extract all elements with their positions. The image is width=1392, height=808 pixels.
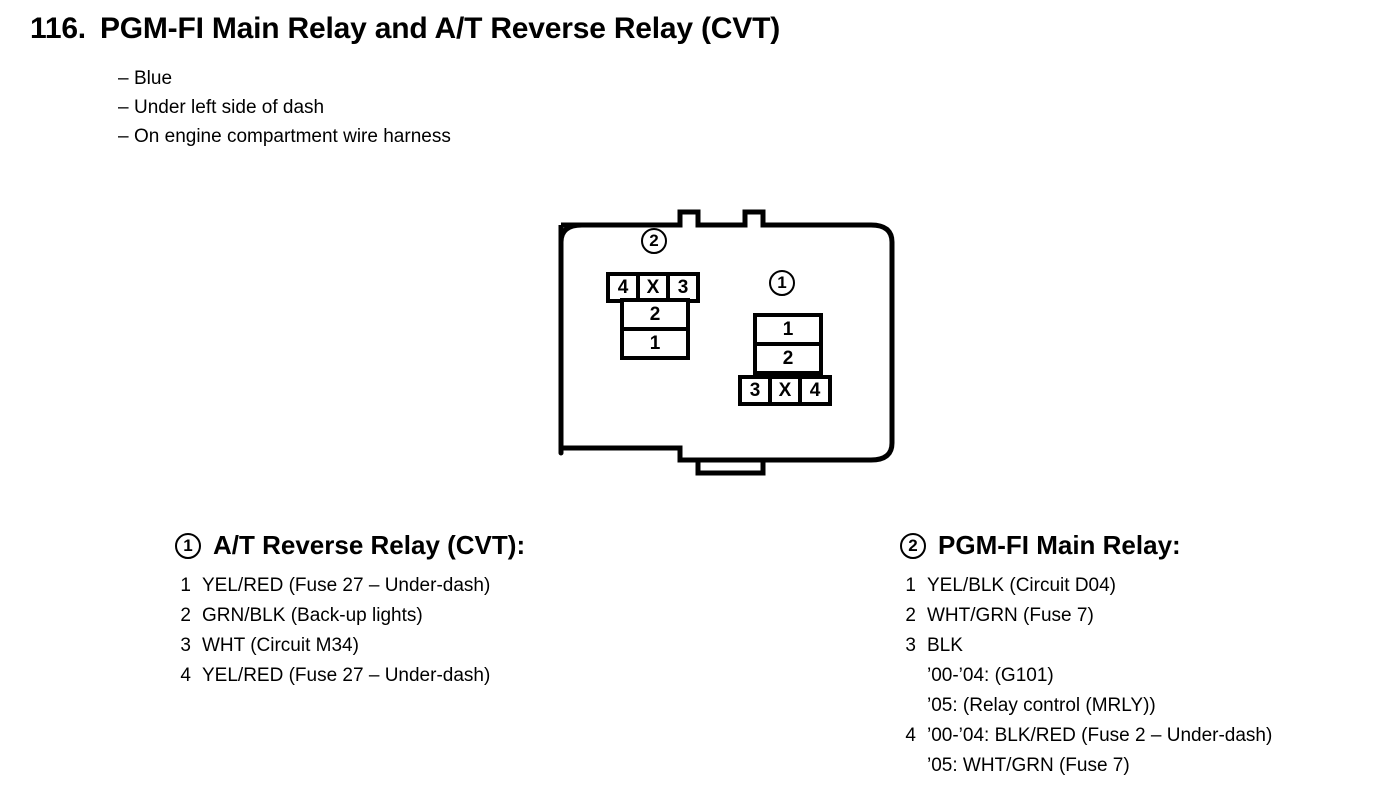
pin-description: YEL/RED (Fuse 27 – Under-dash) — [202, 571, 490, 601]
page-title: 116.PGM-FI Main Relay and A/T Reverse Re… — [30, 12, 780, 46]
page-number: 116. — [30, 12, 86, 46]
pin-description-variant: ’00-’04: BLK/RED (Fuse 2 – Under-dash) — [927, 721, 1272, 751]
bullet-text: Blue — [134, 64, 172, 93]
pin-cell: 1 — [624, 331, 686, 356]
legend-title-text: PGM-FI Main Relay: — [938, 530, 1181, 561]
legend-title: 2 PGM-FI Main Relay: — [900, 530, 1272, 561]
connector-housing-outline — [540, 190, 910, 480]
connector-marker-1: 1 — [769, 270, 795, 296]
pin-number: 4 — [175, 661, 202, 691]
group2-terminal-column: 2 1 — [620, 298, 690, 360]
pin-cell: 4 — [802, 379, 828, 402]
legend-pgm-fi-main-relay: 2 PGM-FI Main Relay: 1 YEL/BLK (Circuit … — [900, 530, 1272, 781]
bullet-item: – Blue — [118, 64, 451, 93]
dash-icon: – — [118, 64, 134, 93]
connector-marker-2: 2 — [641, 228, 667, 254]
legend-row: 4 ’00-’04: BLK/RED (Fuse 2 – Under-dash)… — [900, 721, 1272, 781]
pin-number: 4 — [900, 721, 927, 751]
pin-description: GRN/BLK (Back-up lights) — [202, 601, 423, 631]
pin-description-variant: ’00-’04: (G101) — [927, 661, 1156, 691]
legend-title: 1 A/T Reverse Relay (CVT): — [175, 530, 525, 561]
pin-cell: 4 — [610, 276, 636, 299]
pin-description: YEL/RED (Fuse 27 – Under-dash) — [202, 661, 490, 691]
bullet-text: On engine compartment wire harness — [134, 122, 451, 151]
legend-title-text: A/T Reverse Relay (CVT): — [213, 530, 525, 561]
legend-row: 1 YEL/RED (Fuse 27 – Under-dash) — [175, 571, 525, 601]
pin-cell: X — [640, 276, 666, 299]
legend-row: 2 GRN/BLK (Back-up lights) — [175, 601, 525, 631]
bullet-text: Under left side of dash — [134, 93, 324, 122]
dash-icon: – — [118, 93, 134, 122]
pin-cell: 3 — [670, 276, 696, 299]
legend-row: 3 WHT (Circuit M34) — [175, 631, 525, 661]
pin-number: 1 — [900, 571, 927, 601]
bullet-item: – Under left side of dash — [118, 93, 451, 122]
legend-marker-icon: 1 — [175, 533, 201, 559]
pin-number: 2 — [175, 601, 202, 631]
pin-description: WHT (Circuit M34) — [202, 631, 359, 661]
pin-description: WHT/GRN (Fuse 7) — [927, 601, 1094, 631]
legend-row: 4 YEL/RED (Fuse 27 – Under-dash) — [175, 661, 525, 691]
pin-description: BLK — [927, 631, 1156, 661]
pin-number: 1 — [175, 571, 202, 601]
pin-description-variant: ’05: (Relay control (MRLY)) — [927, 691, 1156, 721]
pin-cell: 2 — [624, 302, 686, 327]
pin-number: 3 — [175, 631, 202, 661]
pin-number: 3 — [900, 631, 927, 661]
legend-at-reverse-relay: 1 A/T Reverse Relay (CVT): 1 YEL/RED (Fu… — [175, 530, 525, 691]
legend-row: 1 YEL/BLK (Circuit D04) — [900, 571, 1272, 601]
group1-terminal-row: 3 X 4 — [738, 375, 832, 406]
pin-number: 2 — [900, 601, 927, 631]
pin-cell: 3 — [742, 379, 768, 402]
legend-row: 2 WHT/GRN (Fuse 7) — [900, 601, 1272, 631]
pin-description-variant: ’05: WHT/GRN (Fuse 7) — [927, 751, 1272, 781]
connector-diagram: 2 1 4 X 3 2 1 1 2 3 X 4 — [540, 190, 910, 480]
legend-row: 3 BLK ’00-’04: (G101) ’05: (Relay contro… — [900, 631, 1272, 721]
bullet-item: – On engine compartment wire harness — [118, 122, 451, 151]
dash-icon: – — [118, 122, 134, 151]
pin-cell: 1 — [757, 317, 819, 342]
description-bullet-list: – Blue – Under left side of dash – On en… — [118, 64, 451, 151]
legend-marker-icon: 2 — [900, 533, 926, 559]
group1-terminal-column: 1 2 — [753, 313, 823, 375]
pin-description: YEL/BLK (Circuit D04) — [927, 571, 1116, 601]
pin-cell: X — [772, 379, 798, 402]
pin-cell: 2 — [757, 346, 819, 371]
page-title-text: PGM-FI Main Relay and A/T Reverse Relay … — [100, 12, 780, 45]
